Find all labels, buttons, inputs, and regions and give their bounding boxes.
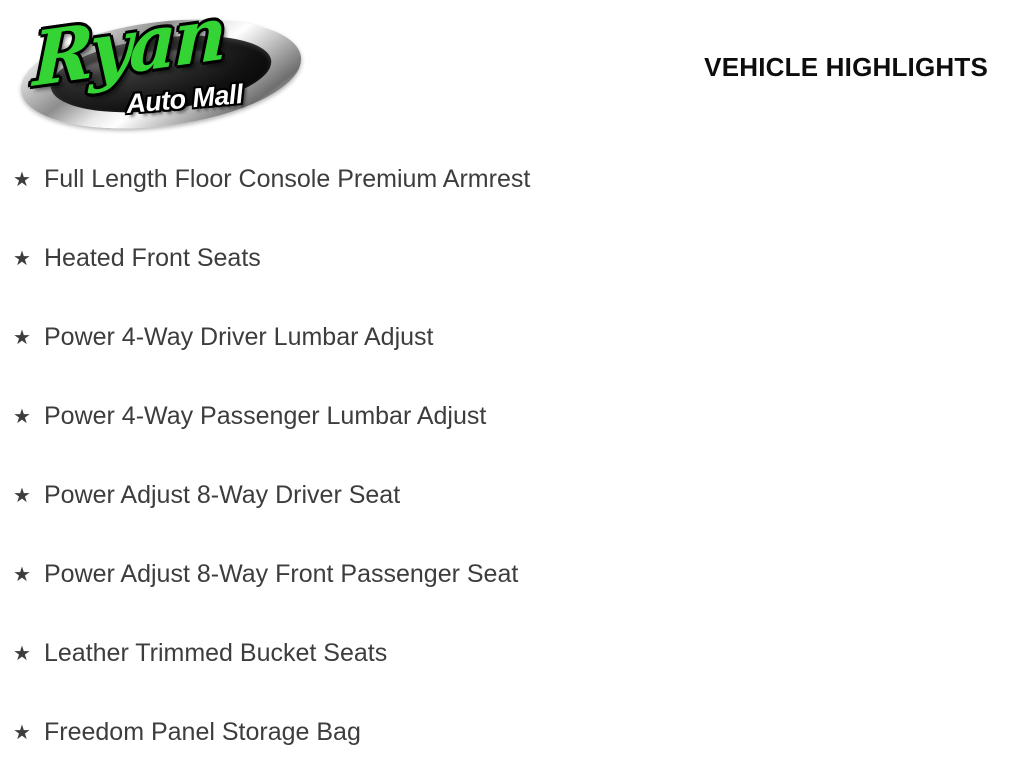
star-icon: ★ xyxy=(13,486,35,506)
page-title: VEHICLE HIGHLIGHTS xyxy=(704,52,988,83)
list-item-label: Freedom Panel Storage Bag xyxy=(44,719,361,747)
list-item: ★ Power Adjust 8-Way Driver Seat xyxy=(0,456,1024,535)
list-item: ★ Leather Trimmed Bucket Seats xyxy=(0,614,1024,693)
list-item: ★ Full Length Floor Console Premium Armr… xyxy=(0,140,1024,219)
star-icon: ★ xyxy=(13,170,35,190)
list-item-label: Heated Front Seats xyxy=(44,245,261,273)
page-header: Ryan Auto Mall VEHICLE HIGHLIGHTS xyxy=(0,0,1024,140)
star-icon: ★ xyxy=(13,723,35,743)
list-item-label: Power 4-Way Driver Lumbar Adjust xyxy=(44,324,433,352)
star-icon: ★ xyxy=(13,328,35,348)
star-icon: ★ xyxy=(13,407,35,427)
list-item: ★ Power Adjust 8-Way Front Passenger Sea… xyxy=(0,535,1024,614)
list-item-label: Power Adjust 8-Way Front Passenger Seat xyxy=(44,561,518,589)
star-icon: ★ xyxy=(13,565,35,585)
list-item-label: Power 4-Way Passenger Lumbar Adjust xyxy=(44,403,486,431)
list-item-label: Full Length Floor Console Premium Armres… xyxy=(44,166,530,194)
list-item: ★ Power 4-Way Passenger Lumbar Adjust xyxy=(0,377,1024,456)
list-item: ★ Heated Front Seats xyxy=(0,219,1024,298)
star-icon: ★ xyxy=(13,249,35,269)
list-item-label: Power Adjust 8-Way Driver Seat xyxy=(44,482,400,510)
list-item: ★ Power 4-Way Driver Lumbar Adjust xyxy=(0,298,1024,377)
dealer-logo[interactable]: Ryan Auto Mall xyxy=(14,8,304,128)
list-item: ★ Freedom Panel Storage Bag xyxy=(0,693,1024,772)
star-icon: ★ xyxy=(13,644,35,664)
list-item-label: Leather Trimmed Bucket Seats xyxy=(44,640,387,668)
vehicle-highlights-list: ★ Full Length Floor Console Premium Armr… xyxy=(0,140,1024,772)
